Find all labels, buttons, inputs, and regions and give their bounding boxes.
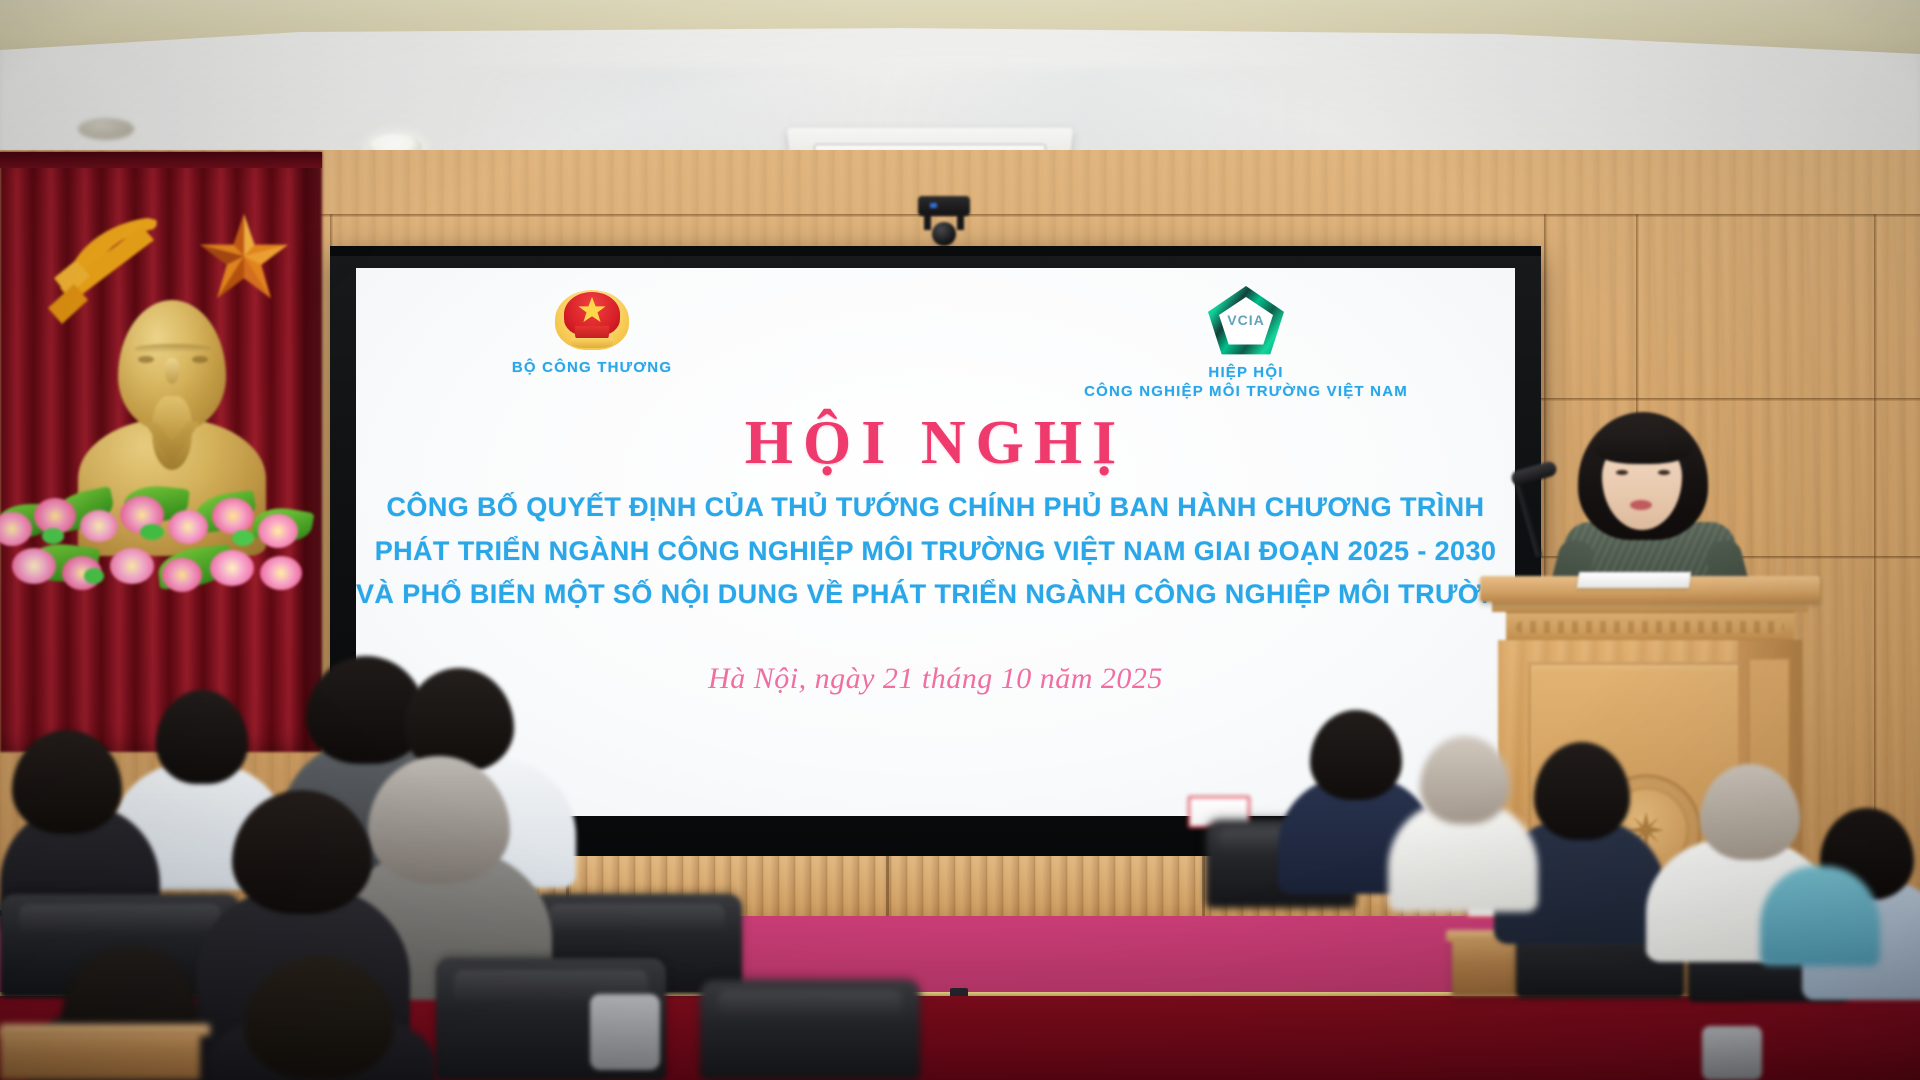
curtain-valance bbox=[0, 152, 322, 168]
vcia-pentagon-logo-icon: VCIA bbox=[1208, 286, 1284, 358]
slide-subtitle-line-1: CÔNG BỐ QUYẾT ĐỊNH CỦA THỦ TƯỚNG CHÍNH P… bbox=[356, 486, 1515, 530]
five-point-gold-star-icon bbox=[196, 212, 292, 304]
audience-chair bbox=[700, 980, 920, 1080]
logo-caption-hiep-hoi: HIỆP HỘI bbox=[1036, 364, 1456, 383]
document-stack-icon bbox=[1577, 572, 1691, 588]
slide-title: HỘI NGHỊ bbox=[356, 408, 1515, 479]
slide-subtitle-line-3: VÀ PHỔ BIẾN MỘT SỐ NỘI DUNG VỀ PHÁT TRIỂ… bbox=[356, 573, 1515, 617]
conference-photo-scene: BỘ CÔNG THƯƠNG VCIA HIỆP HỘI CÔNG NGHIỆP… bbox=[0, 0, 1920, 1080]
slide-logo-row: BỘ CÔNG THƯƠNG VCIA HIỆP HỘI CÔNG NGHIỆP… bbox=[356, 286, 1515, 406]
vcia-mark-text: VCIA bbox=[1208, 312, 1284, 328]
logo-bo-cong-thuong: BỘ CÔNG THƯƠNG bbox=[462, 286, 722, 378]
chair-armrest-icon bbox=[1702, 1026, 1762, 1080]
slide-subtitle-block: CÔNG BỐ QUYẾT ĐỊNH CỦA THỦ TƯỚNG CHÍNH P… bbox=[356, 486, 1515, 617]
chair-armrest-icon bbox=[590, 994, 660, 1070]
slide-date-line: Hà Nội, ngày 21 tháng 10 năm 2025 bbox=[356, 662, 1515, 696]
conference-table-icon bbox=[0, 1030, 200, 1080]
slide-subtitle-line-2: PHÁT TRIỂN NGÀNH CÔNG NGHIỆP MÔI TRƯỜNG … bbox=[356, 530, 1515, 574]
logo-caption-vcia-full: CÔNG NGHIỆP MÔI TRƯỜNG VIỆT NAM bbox=[1036, 383, 1456, 402]
audience-person bbox=[1760, 866, 1880, 966]
vietnam-national-emblem-icon bbox=[555, 286, 629, 354]
ptz-camera-icon bbox=[916, 196, 972, 248]
conference-table-icon bbox=[0, 1024, 210, 1036]
logo-vcia: VCIA HIỆP HỘI CÔNG NGHIỆP MÔI TRƯỜNG VIỆ… bbox=[1036, 286, 1456, 402]
lotus-bouquet-icon bbox=[0, 452, 338, 592]
logo-caption-bo-cong-thuong: BỘ CÔNG THƯƠNG bbox=[462, 359, 722, 378]
ceiling-vent-icon bbox=[78, 118, 134, 140]
